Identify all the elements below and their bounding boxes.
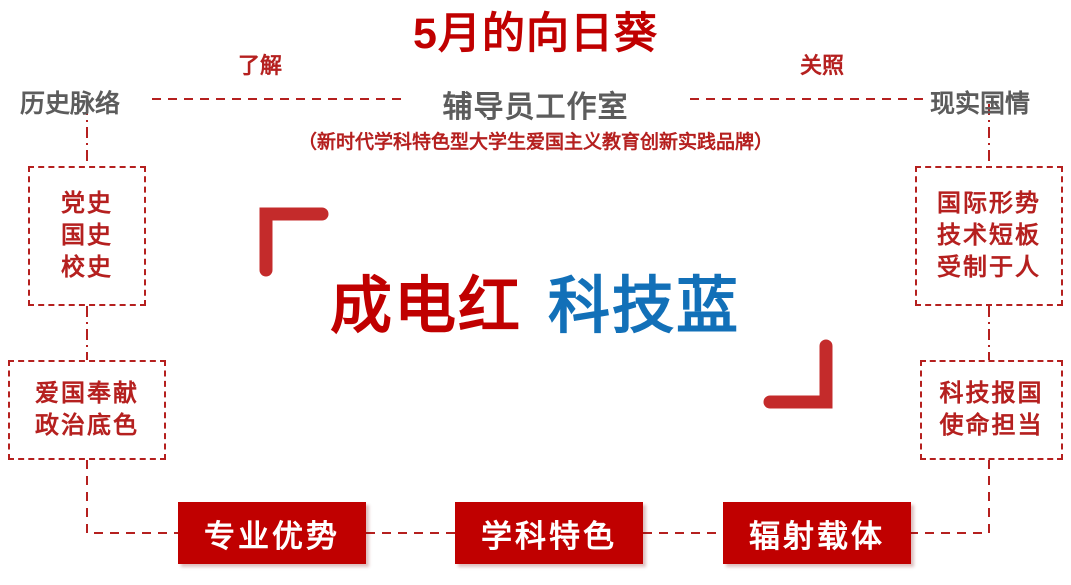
world-situation-box-line: 技术短板: [937, 222, 1041, 250]
mission-box: 科技报国 使命担当: [920, 360, 1063, 460]
politics-box: 爱国奉献 政治底色: [8, 360, 166, 460]
bottom-item-label: 辐射载体: [749, 511, 885, 556]
left-branch-heading: 历史脉络: [20, 84, 120, 120]
right-branch-heading: 现实国情: [930, 84, 1030, 120]
core-slogan: 成电红科技蓝: [250, 255, 820, 345]
bottom-item-discipline-feature[interactable]: 学科特色: [455, 502, 643, 564]
bottom-item-label: 学科特色: [481, 511, 617, 556]
connector-right-elbow: [911, 460, 989, 533]
bottom-item-label: 专业优势: [204, 511, 340, 556]
slogan-blue-text: 科技蓝: [548, 272, 740, 341]
politics-box-line: 爱国奉献: [35, 380, 139, 408]
studio-name: 辅导员工作室: [0, 82, 1071, 126]
world-situation-box-line: 国际形势: [937, 190, 1041, 218]
slide-canvas: 5月的向日葵 辅导员工作室 （新时代学科特色型大学生爱国主义教育创新实践品牌） …: [0, 0, 1071, 585]
mission-box-line: 使命担当: [940, 412, 1044, 440]
page-title: 5月的向日葵: [0, 12, 1071, 57]
slogan-red-text: 成电红: [330, 272, 522, 341]
politics-box-line: 政治底色: [35, 412, 139, 440]
bottom-item-major-advantage[interactable]: 专业优势: [178, 502, 366, 564]
history-box: 党史 国史 校史: [28, 166, 146, 306]
right-branch-relation: 关照: [800, 48, 844, 80]
mission-box-line: 科技报国: [940, 380, 1044, 408]
connector-left-elbow: [87, 460, 178, 533]
history-box-line: 国史: [61, 222, 113, 250]
history-box-line: 校史: [61, 254, 113, 282]
left-branch-relation: 了解: [238, 48, 282, 80]
bottom-item-radiating-carrier[interactable]: 辐射载体: [723, 502, 911, 564]
world-situation-box: 国际形势 技术短板 受制于人: [915, 166, 1063, 306]
world-situation-box-line: 受制于人: [937, 254, 1041, 282]
corner-bracket-bottom-right-icon: [762, 338, 834, 410]
history-box-line: 党史: [61, 190, 113, 218]
brand-subtitle: （新时代学科特色型大学生爱国主义教育创新实践品牌）: [0, 127, 1071, 154]
